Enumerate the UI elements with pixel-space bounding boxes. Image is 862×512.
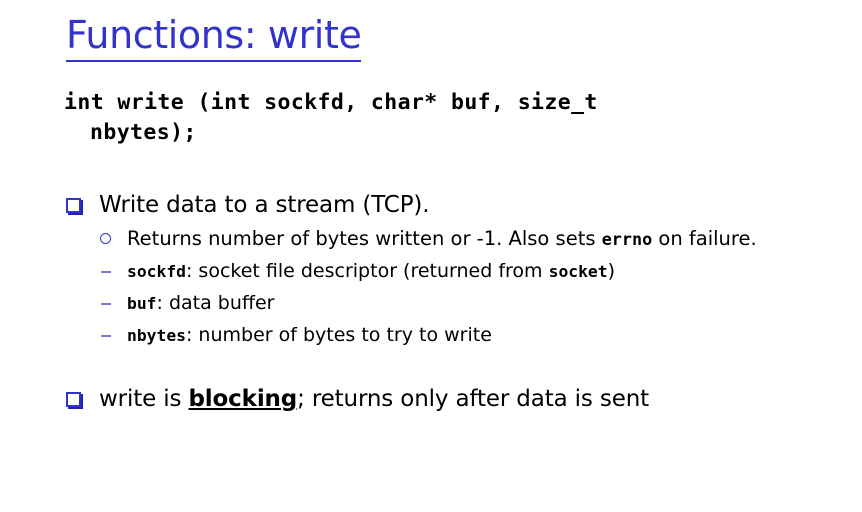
bullet-param-sockfd-desc: : socket file descriptor (returned from [186, 260, 549, 282]
bullet-returns-text-after: on failure. [652, 227, 756, 250]
page-title: Functions: write [66, 13, 361, 62]
code-signature-line-1: int write (int sockfd, char* buf, size_t [64, 88, 824, 118]
bullet-blocking-emphasis: blocking [188, 386, 297, 412]
bullet-write-blocking-label: write is blocking; returns only after da… [99, 386, 649, 412]
bullet-param-buf: buf: data buffer [0, 291, 862, 316]
bullet-param-nbytes-name: nbytes [127, 326, 186, 345]
bullet-blocking-text-after: ; returns only after data is sent [297, 386, 649, 412]
bullet-param-nbytes-desc: : number of bytes to try to write [186, 324, 492, 346]
bullet-returns: Returns number of bytes written or -1. A… [0, 226, 862, 252]
bullet-blocking-text-before: write is [99, 386, 188, 412]
slide-canvas: Functions: write int write (int sockfd, … [0, 0, 862, 512]
bullet-write-data-label: Write data to a stream (TCP). [99, 192, 429, 218]
bullet-param-sockfd: sockfd: socket file descriptor (returned… [0, 259, 862, 284]
slide-title-container: Functions: write [66, 13, 361, 62]
bullet-write-data: Write data to a stream (TCP). [0, 190, 862, 220]
bullet-returns-code-errno: errno [602, 229, 652, 249]
slide-body: Write data to a stream (TCP). Returns nu… [0, 190, 862, 416]
bullet-param-nbytes: nbytes: number of bytes to try to write [0, 323, 862, 348]
bullet-param-sockfd-desc-end: ) [608, 260, 615, 282]
square-bullet-icon [66, 392, 81, 407]
code-signature-line-2: nbytes); [64, 118, 824, 148]
bullet-group-spacer [0, 348, 862, 384]
bullet-write-blocking: write is blocking; returns only after da… [0, 384, 862, 414]
dash-bullet-icon [101, 303, 111, 305]
bullet-param-buf-name: buf [127, 294, 157, 313]
code-signature-block: int write (int sockfd, char* buf, size_t… [64, 88, 824, 148]
dash-bullet-icon [101, 271, 111, 273]
bullet-param-sockfd-code-socket: socket [549, 262, 608, 281]
bullet-returns-text-before: Returns number of bytes written or -1. A… [127, 227, 602, 250]
bullet-param-sockfd-name: sockfd [127, 262, 186, 281]
dash-bullet-icon [101, 335, 111, 337]
square-bullet-icon [66, 198, 81, 213]
bullet-param-buf-desc: : data buffer [157, 292, 275, 314]
circle-bullet-icon [100, 233, 111, 244]
